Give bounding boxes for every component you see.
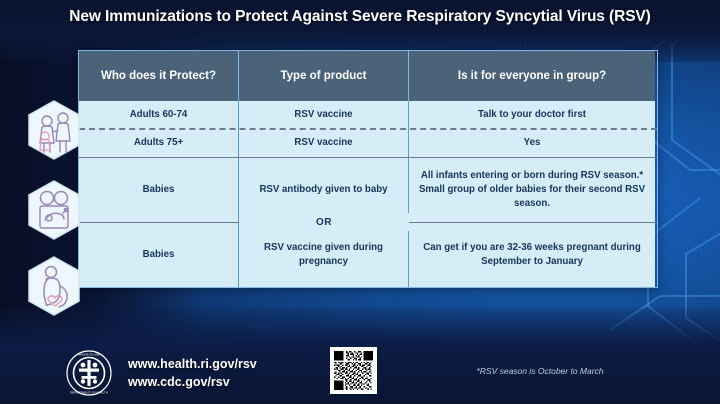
cell-everyone-in-group: Can get if you are 32-36 weeks pregnant …	[409, 223, 655, 287]
footer-urls: www.health.ri.gov/rsv www.cdc.gov/rsv	[128, 355, 257, 391]
or-divider-label: OR	[239, 213, 409, 231]
url-cdc-gov[interactable]: www.cdc.gov/rsv	[128, 373, 257, 391]
parent-and-baby-icon	[27, 180, 81, 240]
svg-text:RHODE ISLAND: RHODE ISLAND	[78, 352, 101, 356]
qr-code-icon[interactable]	[330, 347, 377, 394]
page-title: New Immunizations to Protect Against Sev…	[0, 8, 720, 26]
immunization-table: Who does it Protect? Type of product Is …	[78, 50, 658, 288]
cell-everyone-in-group: Talk to your doctor first	[409, 101, 655, 129]
cell-who-protect: Adults 75+	[79, 129, 239, 157]
column-header-who-protect: Who does it Protect?	[79, 51, 239, 101]
column-header-everyone-in-group: Is it for everyone in group?	[409, 51, 655, 101]
table-row: Babies RSV vaccine given during pregnanc…	[79, 222, 657, 287]
pregnant-person-icon	[27, 256, 81, 316]
cell-type-of-product: RSV vaccine given during pregnancy	[239, 223, 409, 287]
cell-who-protect: Babies	[79, 223, 239, 287]
table-row: Adults 75+ RSV vaccine Yes	[79, 129, 657, 157]
cell-who-protect: Adults 60-74	[79, 101, 239, 129]
rhode-island-department-of-health-seal-icon: RHODE ISLAND DEPARTMENT OF HEALTH	[66, 350, 112, 396]
column-header-type-of-product: Type of product	[239, 51, 409, 101]
infographic-poster: New Immunizations to Protect Against Sev…	[0, 0, 720, 404]
cell-type-of-product: RSV vaccine	[239, 101, 409, 129]
cell-everyone-in-group: All infants entering or born during RSV …	[409, 158, 655, 222]
url-health-ri-gov[interactable]: www.health.ri.gov/rsv	[128, 355, 257, 373]
older-adults-icon	[27, 100, 81, 160]
svg-text:DEPARTMENT OF HEALTH: DEPARTMENT OF HEALTH	[70, 391, 108, 395]
table-row: Adults 60-74 RSV vaccine Talk to your do…	[79, 101, 657, 129]
table-header-row: Who does it Protect? Type of product Is …	[79, 51, 657, 101]
cell-type-of-product: RSV vaccine	[239, 129, 409, 157]
cell-who-protect: Babies	[79, 158, 239, 222]
footnote-rsv-season: *RSV season is October to March	[420, 366, 660, 376]
cell-everyone-in-group: Yes	[409, 129, 655, 157]
